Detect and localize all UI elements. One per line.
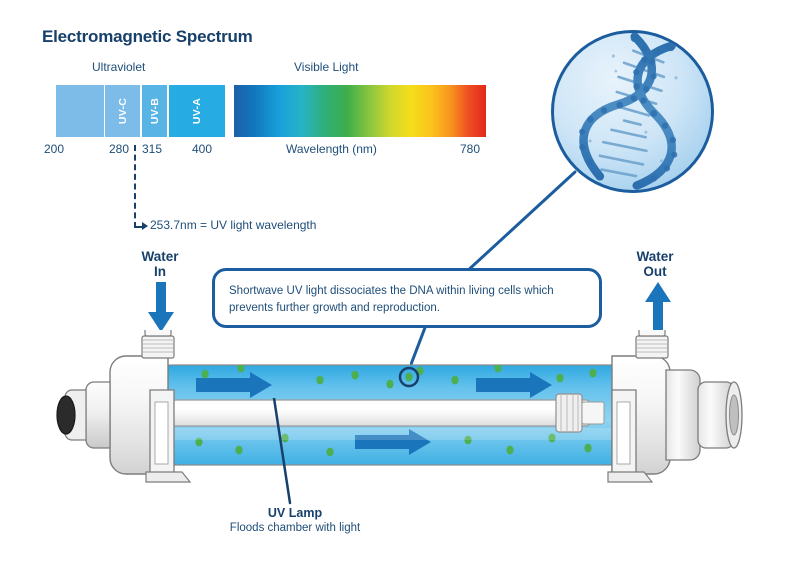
spectrum-segment-uva: UV-A [168, 85, 225, 137]
uv-lamp-tube [120, 394, 604, 432]
page-title: Electromagnetic Spectrum [42, 27, 253, 47]
uv-lamp-label: UV Lamp Floods chamber with light [195, 506, 395, 534]
dna-circle-frame [551, 30, 714, 193]
cable-gland [57, 396, 75, 434]
callout-box: Shortwave UV light dissociates the DNA w… [212, 268, 602, 328]
dna-inset [551, 30, 714, 193]
axis-tick-315: 315 [142, 142, 162, 156]
diagram-canvas: Electromagnetic Spectrum Ultraviolet Vis… [0, 0, 786, 562]
arrow-right-icon [142, 222, 148, 230]
spectrum-bar: UV-C UV-B UV-A [56, 85, 486, 137]
dna-helix-icon [554, 33, 714, 193]
water-inlet-label: Water In [132, 249, 188, 279]
spectrum-segment-uv-lower [56, 85, 104, 137]
uv-lamp-title: UV Lamp [195, 506, 395, 520]
uv-wavelength-marker-line [134, 145, 136, 228]
axis-label-wavelength: Wavelength (nm) [286, 142, 377, 156]
visible-light-caption: Visible Light [294, 60, 359, 74]
uv-lamp-subtitle: Floods chamber with light [195, 522, 395, 534]
spectrum-segment-uvc-label: UV-C [117, 98, 129, 124]
spectrum-segment-uva-label: UV-A [191, 98, 203, 124]
ultraviolet-caption: Ultraviolet [92, 60, 145, 74]
uv-reactor-chamber [0, 330, 786, 505]
axis-tick-200: 200 [44, 142, 64, 156]
axis-tick-780: 780 [460, 142, 480, 156]
water-inlet-label-line1: Water [141, 249, 178, 264]
outlet-port [636, 336, 668, 358]
axis-tick-280: 280 [109, 142, 129, 156]
water-outlet-label: Water Out [627, 249, 683, 279]
arrow-up-icon [644, 282, 672, 334]
reactor-right-endcap [608, 330, 742, 482]
spectrum-segment-visible-light [234, 85, 486, 137]
reactor-left-endcap [57, 330, 190, 482]
water-outlet-label-line2: Out [643, 264, 666, 279]
water-inlet-label-line2: In [154, 264, 166, 279]
spectrum-segment-uvb: UV-B [141, 85, 167, 137]
uv-wavelength-annotation: 253.7nm = UV light wavelength [150, 218, 316, 232]
uv-lamp-leader-line [250, 398, 300, 508]
arrow-down-icon [147, 282, 175, 334]
spectrum-segment-uvb-label: UV-B [149, 98, 161, 124]
axis-tick-400: 400 [192, 142, 212, 156]
inlet-port [142, 336, 174, 358]
callout-text: Shortwave UV light dissociates the DNA w… [229, 283, 591, 317]
water-outlet-label-line1: Water [636, 249, 673, 264]
spectrum-axis-ticks: 200 280 315 400 Wavelength (nm) 780 [56, 142, 496, 160]
spectrum-segment-uvc: UV-C [104, 85, 140, 137]
